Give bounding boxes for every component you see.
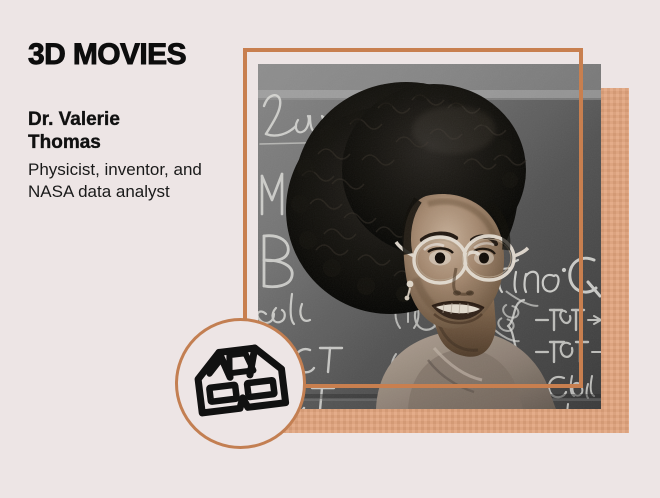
page-title: 3D MOVIES	[28, 40, 233, 70]
3d-glasses-icon	[189, 332, 293, 436]
info-card: 3D MOVIES Dr. Valerie Thomas Physicist, …	[0, 0, 660, 498]
portrait-photo	[258, 64, 601, 409]
badge-circle	[175, 318, 306, 449]
text-column: 3D MOVIES Dr. Valerie Thomas Physicist, …	[28, 40, 233, 203]
person-role: Physicist, inventor, and NASA data analy…	[28, 159, 213, 202]
person-name: Dr. Valerie Thomas	[28, 108, 178, 154]
